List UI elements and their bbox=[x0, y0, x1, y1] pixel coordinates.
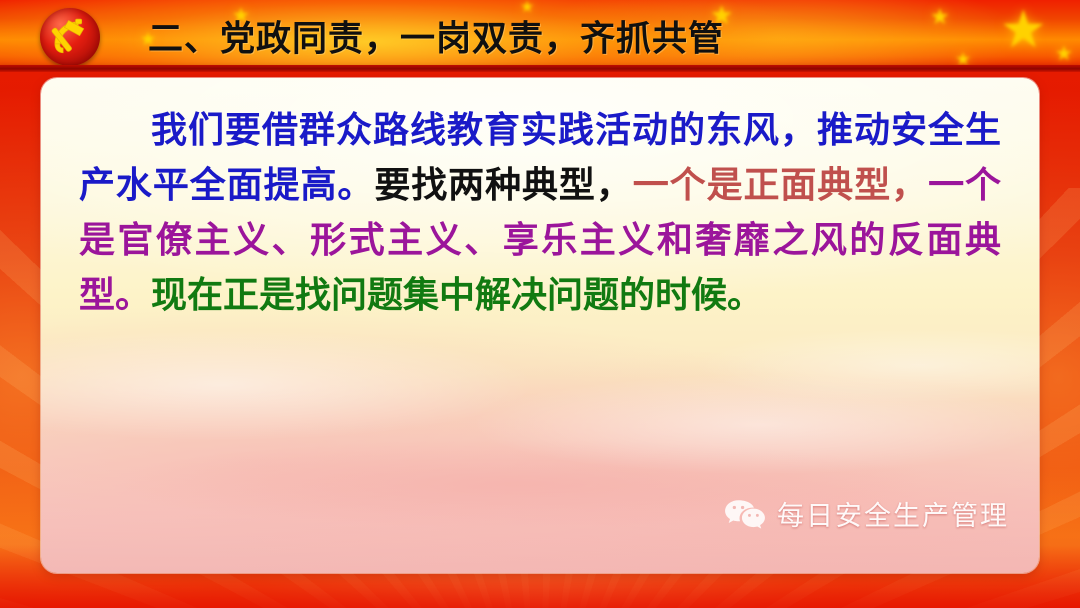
header-banner: ★★★★★★★★★ 二、党政同责，一岗双责，齐抓共管 bbox=[0, 0, 1080, 72]
header-underline bbox=[0, 65, 1080, 72]
body-text-block: 我们要借群众路线教育实践活动的东风，推动安全生产水平全面提高。要找两种典型，一个… bbox=[79, 102, 1001, 322]
page-title: 二、党政同责，一岗双责，齐抓共管 bbox=[148, 11, 724, 62]
body-paragraph: 我们要借群众路线教育实践活动的东风，推动安全生产水平全面提高。要找两种典型，一个… bbox=[79, 102, 1001, 322]
wechat-logo-icon bbox=[723, 497, 767, 531]
text-segment-rose: 一个是正面典型， bbox=[633, 164, 928, 205]
watermark: 每日安全生产管理 bbox=[723, 494, 1009, 533]
star-icon: ★ bbox=[1000, 4, 1047, 56]
star-icon: ★ bbox=[930, 6, 950, 28]
content-panel: 我们要借群众路线教育实践活动的东风，推动安全生产水平全面提高。要找两种典型，一个… bbox=[41, 78, 1039, 573]
watermark-label: 每日安全生产管理 bbox=[777, 494, 1009, 533]
text-segment-green: 现在正是找问题集中解决问题的时候。 bbox=[151, 274, 763, 315]
text-segment-black: 要找两种典型， bbox=[374, 164, 632, 205]
slide-root: ★★★★★★★★★ 二、党政同责，一岗双责，齐抓共管 bbox=[0, 0, 1080, 608]
party-emblem-hammer-sickle-icon bbox=[40, 8, 100, 66]
star-icon: ★ bbox=[1055, 44, 1073, 64]
